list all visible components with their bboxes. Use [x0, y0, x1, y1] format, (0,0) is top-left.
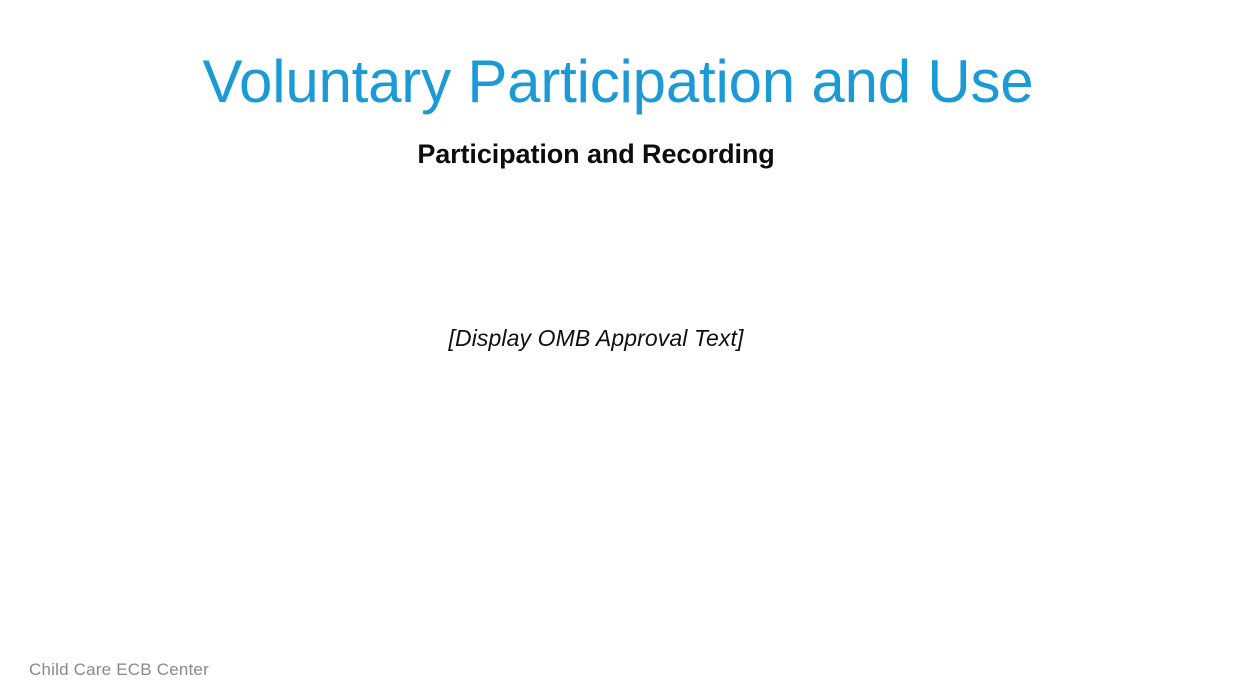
- slide-title-container: Voluntary Participation and Use: [0, 46, 1236, 118]
- slide-subtitle-container: Participation and Recording: [0, 136, 1192, 172]
- presentation-slide: Voluntary Participation and Use Particip…: [0, 0, 1236, 696]
- omb-approval-placeholder-text: [Display OMB Approval Text]: [0, 322, 1192, 354]
- page-title: Voluntary Participation and Use: [0, 46, 1236, 118]
- slide-body-container: [Display OMB Approval Text]: [0, 322, 1192, 354]
- slide-subtitle: Participation and Recording: [0, 136, 1192, 172]
- slide-footer-label: Child Care ECB Center: [29, 658, 449, 682]
- slide-footer-container: Child Care ECB Center: [29, 658, 449, 682]
